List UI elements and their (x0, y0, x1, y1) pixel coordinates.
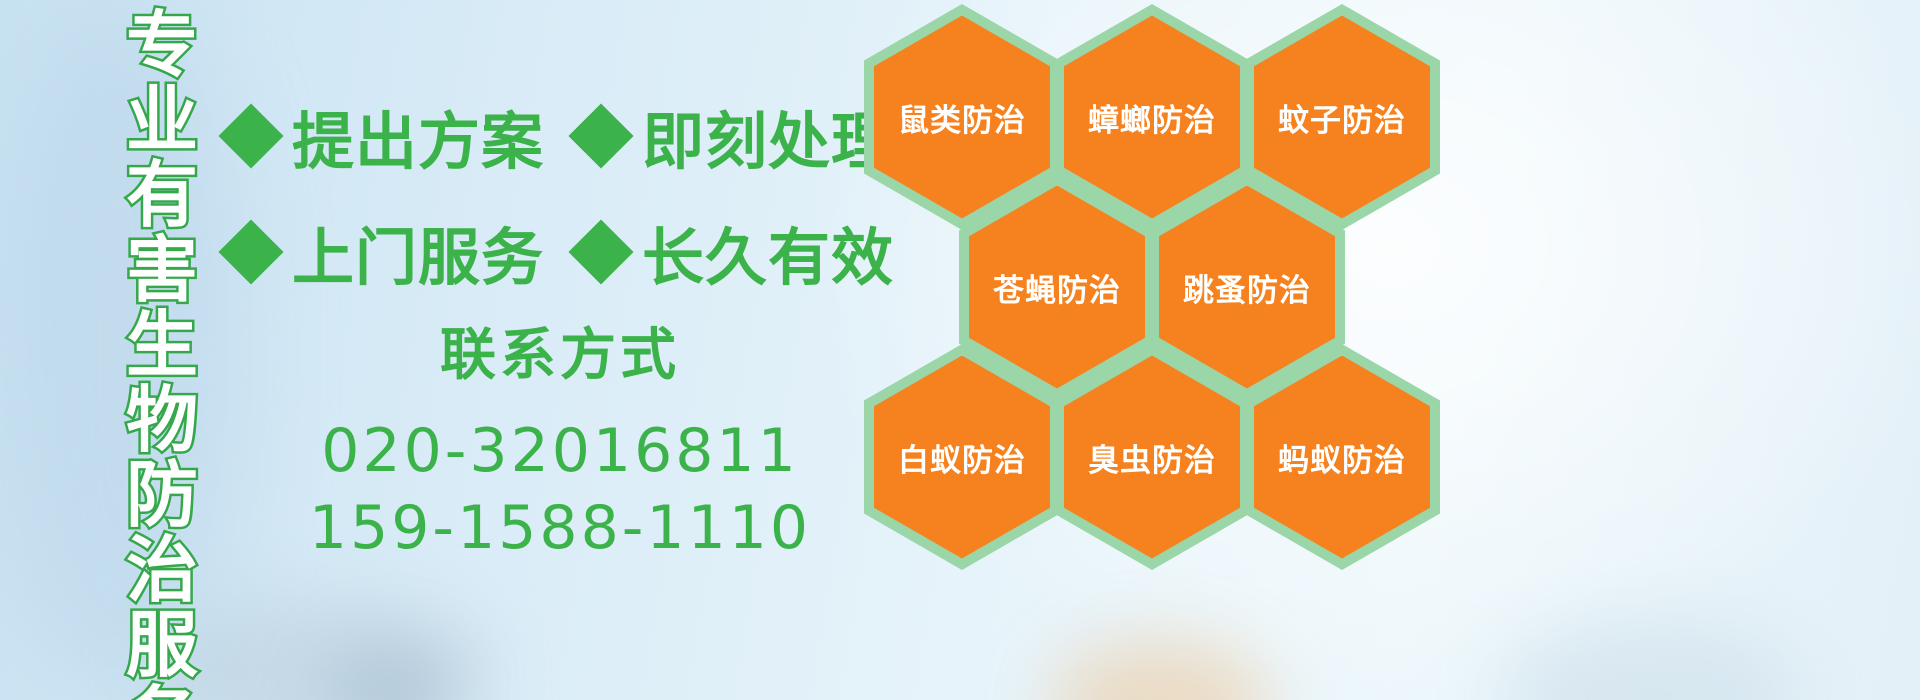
service-hex-label: 蟑螂防治 (1088, 95, 1216, 140)
vertical-headline-char: 物 (126, 383, 198, 458)
service-hex-inner: 鼠类防治 (874, 16, 1050, 219)
diamond-icon (218, 103, 283, 168)
service-hex-label: 蚊子防治 (1278, 95, 1406, 140)
vertical-headline-char: 专 (126, 8, 198, 83)
vertical-headline-char: 治 (126, 533, 198, 608)
service-hex-inner: 蚊子防治 (1254, 16, 1430, 219)
contact-heading: 联系方式 (300, 310, 820, 391)
service-honeycomb: 鼠类防治 蟑螂防治 蚊子防治 苍蝇防治 跳蚤防治 白蚁防 (858, 0, 1458, 560)
service-hex-label: 鼠类防治 (898, 95, 1026, 140)
feature-label: 提出方案 (292, 91, 544, 181)
service-hex-label: 跳蚤防治 (1183, 265, 1311, 310)
service-hex-label: 蚂蚁防治 (1278, 435, 1406, 480)
vertical-headline-char: 防 (126, 458, 198, 533)
feature-row: 提出方案 即刻处理 (228, 78, 868, 194)
vertical-headline-char: 害 (126, 233, 198, 308)
vertical-headline-char: 服 (126, 608, 198, 683)
feature-row: 上门服务 长久有效 (228, 194, 868, 310)
vertical-headline-char: 务 (126, 683, 198, 700)
feature-list: 提出方案 即刻处理 上门服务 长久有效 (228, 78, 868, 310)
service-hex-inner: 蟑螂防治 (1064, 16, 1240, 219)
contact-phone-mobile[interactable]: 159-1588-1110 (300, 490, 820, 567)
feature-item-long-lasting: 长久有效 (578, 207, 894, 297)
service-hex-inner: 跳蚤防治 (1159, 186, 1335, 389)
service-hex-inner: 臭虫防治 (1064, 356, 1240, 559)
diamond-icon (568, 219, 633, 284)
service-hex-inner: 苍蝇防治 (969, 186, 1145, 389)
vertical-headline-char: 业 (126, 83, 198, 158)
vertical-headline-char: 有 (126, 158, 198, 233)
feature-label: 上门服务 (292, 207, 544, 297)
vertical-headline: 专 业 有 害 生 物 防 治 服 务 (108, 8, 216, 692)
service-hex-inner: 白蚁防治 (874, 356, 1050, 559)
diamond-icon (568, 103, 633, 168)
diamond-icon (218, 219, 283, 284)
service-hex-inner: 蚂蚁防治 (1254, 356, 1430, 559)
feature-item-onsite-service: 上门服务 (228, 207, 544, 297)
contact-block: 联系方式 020-32016811 159-1588-1110 (300, 310, 820, 567)
service-hex-label: 臭虫防治 (1088, 435, 1216, 480)
feature-item-propose-plan: 提出方案 (228, 91, 544, 181)
background-blob-b (330, 648, 450, 700)
feature-label: 长久有效 (642, 207, 894, 297)
background-blob-d (1500, 620, 1800, 700)
feature-item-immediate-handling: 即刻处理 (578, 91, 894, 181)
contact-phone-landline[interactable]: 020-32016811 (300, 413, 820, 490)
promo-banner: 专 业 有 害 生 物 防 治 服 务 提出方案 即刻处理 上门服务 (0, 0, 1920, 700)
service-hex-label: 苍蝇防治 (993, 265, 1121, 310)
feature-label: 即刻处理 (642, 91, 894, 181)
service-hex-label: 白蚁防治 (898, 435, 1026, 480)
background-blob-c (1050, 640, 1270, 700)
vertical-headline-char: 生 (126, 308, 198, 383)
